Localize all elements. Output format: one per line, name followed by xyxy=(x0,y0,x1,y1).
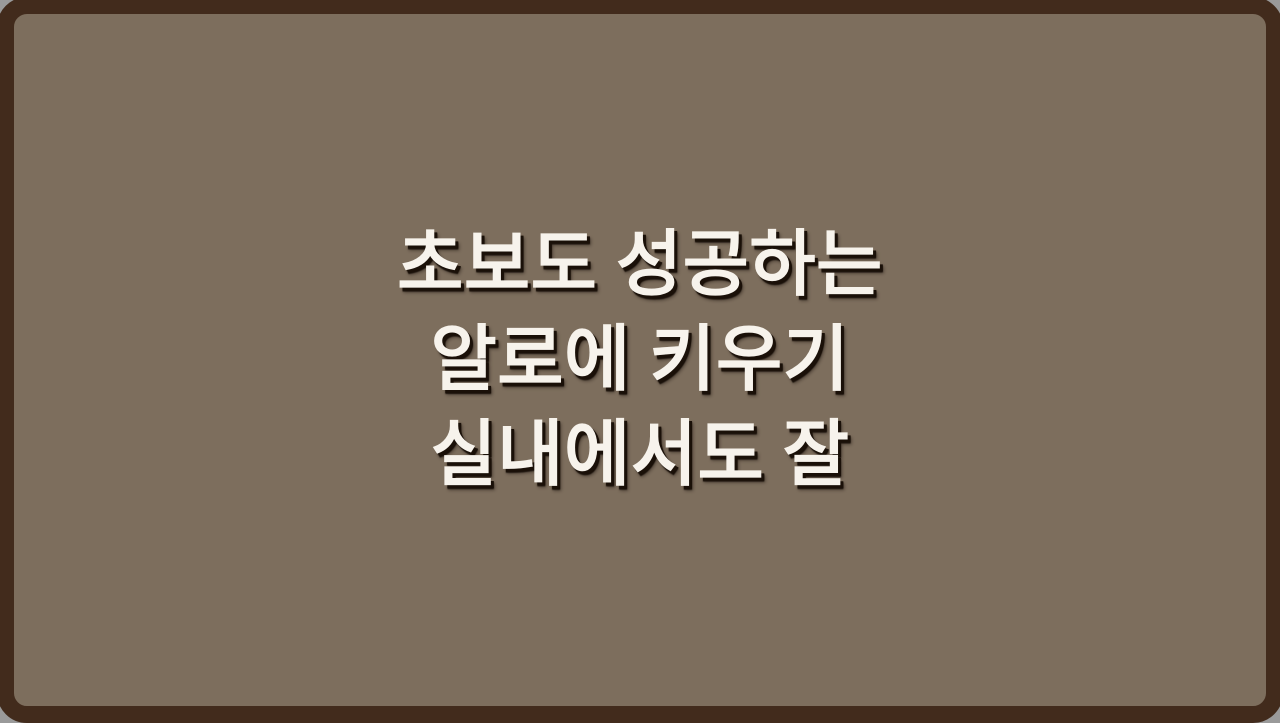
headline-line-1: 초보도 성공하는 xyxy=(54,218,1226,313)
headline-line-2: 알로에 키우기 xyxy=(54,313,1226,408)
headline-line-3: 실내에서도 잘 xyxy=(54,408,1226,503)
headline-block: 초보도 성공하는 알로에 키우기 실내에서도 잘 xyxy=(14,218,1266,503)
thumbnail-canvas: 초보도 성공하는 알로에 키우기 실내에서도 잘 xyxy=(0,0,1280,720)
thumbnail-card: 초보도 성공하는 알로에 키우기 실내에서도 잘 xyxy=(0,0,1280,723)
